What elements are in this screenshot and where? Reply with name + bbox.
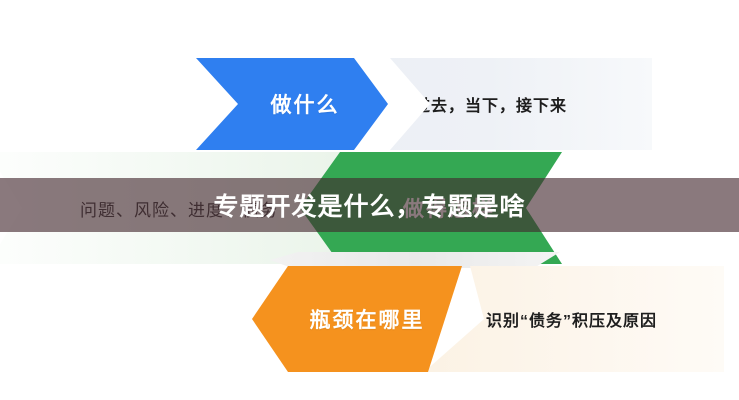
process-label-text-bottom: 瓶颈在哪里	[310, 304, 425, 334]
screenshot-canvas: 过去，当下，接下来 做什么 问题、风险、进度、债务 做得怎样 识别“债务”积压及…	[0, 0, 739, 400]
process-row-top: 过去，当下，接下来 做什么	[0, 58, 739, 150]
process-label-chevron-top: 做什么	[196, 58, 388, 150]
process-description-label-top: 过去，当下，接下来	[414, 92, 567, 116]
process-description-chevron-bottom: 识别“债务”积压及原因	[424, 266, 724, 372]
process-label-chevron-bottom: 瓶颈在哪里	[252, 266, 462, 372]
process-label-text-top: 做什么	[271, 89, 340, 119]
process-description-label-bottom: 识别“债务”积压及原因	[486, 307, 657, 331]
banner-title-text: 专题开发是什么，专题是啥	[213, 187, 525, 223]
process-row-bottom: 识别“债务”积压及原因 瓶颈在哪里	[0, 266, 739, 372]
process-description-chevron-top: 过去，当下，接下来	[352, 58, 652, 150]
title-banner-overlay: 专题开发是什么，专题是啥	[0, 178, 739, 232]
